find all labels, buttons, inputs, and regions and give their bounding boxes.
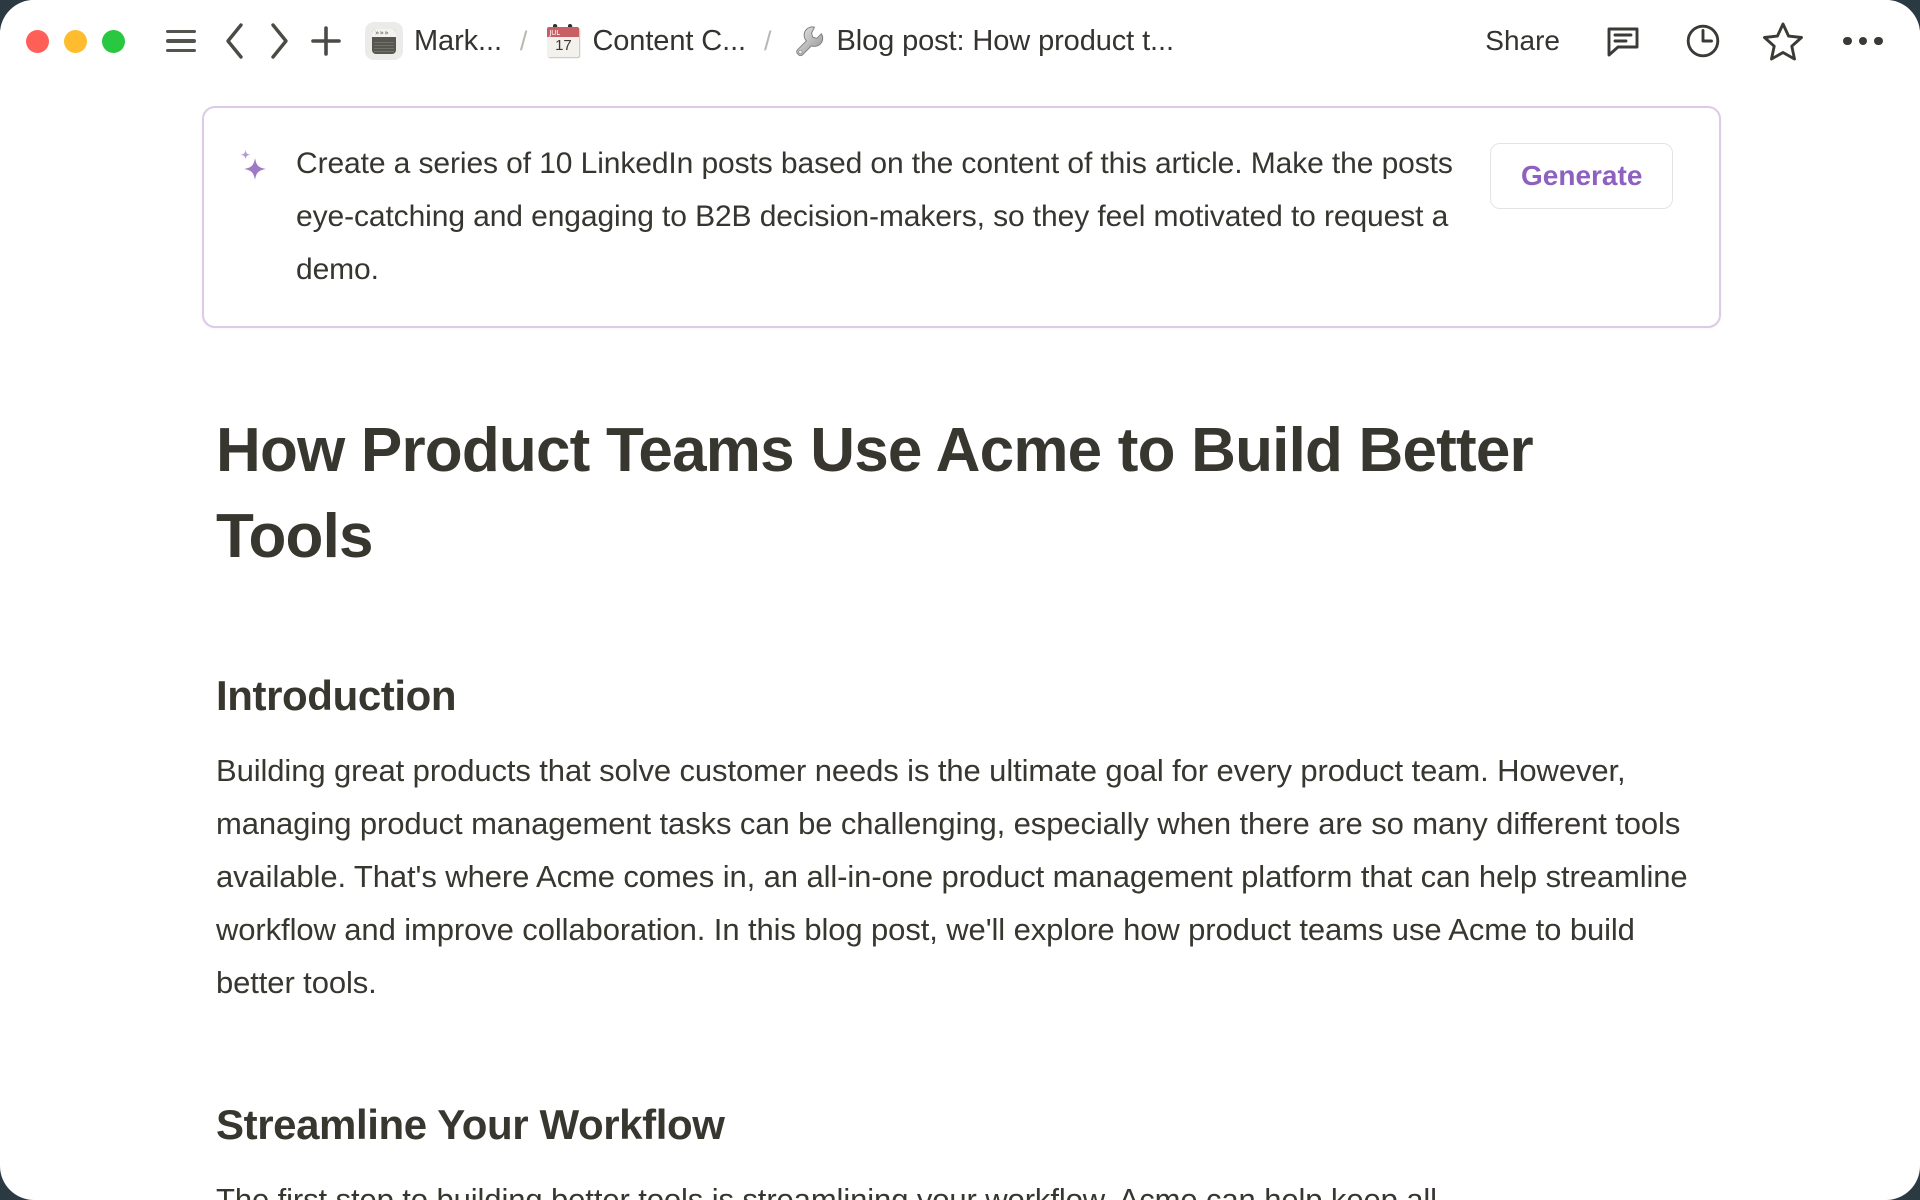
share-button[interactable]: Share xyxy=(1479,21,1566,61)
calendar-month-label: JUL xyxy=(549,29,560,37)
workspace-card-icon: »»» xyxy=(365,22,403,60)
ai-prompt-card[interactable]: Create a series of 10 LinkedIn posts bas… xyxy=(202,106,1721,328)
page-title[interactable]: How Product Teams Use Acme to Build Bett… xyxy=(216,408,1606,580)
minimize-window-button[interactable] xyxy=(64,30,87,53)
chevron-right-icon[interactable] xyxy=(257,19,301,63)
star-icon[interactable] xyxy=(1760,18,1806,64)
document-body: How Product Teams Use Acme to Build Bett… xyxy=(0,350,1920,1200)
calendar-emoji-icon: JUL 17 xyxy=(545,23,581,59)
ai-prompt-text[interactable]: Create a series of 10 LinkedIn posts bas… xyxy=(296,135,1456,296)
section-heading-streamline-your-workflow[interactable]: Streamline Your Workflow xyxy=(216,1101,1704,1149)
app-window: »»» Mark... / JUL 17 Content C... / xyxy=(0,0,1920,1200)
breadcrumb-item-current-page[interactable]: Blog post: How product t... xyxy=(786,20,1178,62)
close-window-button[interactable] xyxy=(26,30,49,53)
window-traffic-lights xyxy=(26,30,125,53)
more-dots xyxy=(1843,37,1883,46)
breadcrumb-label-current-page: Blog post: How product t... xyxy=(837,25,1174,58)
plus-icon[interactable] xyxy=(303,18,349,64)
breadcrumb-label-workspace: Mark... xyxy=(414,25,502,58)
clock-history-icon[interactable] xyxy=(1680,18,1726,64)
toolbar-actions: Share xyxy=(1453,18,1886,64)
breadcrumb: »»» Mark... / JUL 17 Content C... / xyxy=(361,19,1178,63)
calendar-day-label: 17 xyxy=(545,37,581,54)
chevron-left-icon[interactable] xyxy=(213,19,257,63)
maximize-window-button[interactable] xyxy=(102,30,125,53)
breadcrumb-item-content-calendar[interactable]: JUL 17 Content C... xyxy=(541,20,750,62)
breadcrumb-separator-2: / xyxy=(764,26,772,57)
breadcrumb-separator: / xyxy=(520,26,528,57)
hamburger-menu-icon[interactable] xyxy=(159,19,203,63)
comment-bubble-icon[interactable] xyxy=(1600,18,1646,64)
section-paragraph-introduction[interactable]: Building great products that solve custo… xyxy=(216,744,1704,1009)
window-titlebar: »»» Mark... / JUL 17 Content C... / xyxy=(0,0,1920,82)
breadcrumb-item-workspace[interactable]: »»» Mark... xyxy=(361,19,506,63)
wrench-emoji-icon xyxy=(790,23,826,59)
more-options-icon[interactable] xyxy=(1840,18,1886,64)
section-heading-introduction[interactable]: Introduction xyxy=(216,672,1704,720)
generate-button[interactable]: Generate xyxy=(1490,143,1673,209)
hamburger-bars xyxy=(166,23,196,59)
breadcrumb-label-content-calendar: Content C... xyxy=(592,25,746,58)
ai-sparkle-icon xyxy=(230,145,278,193)
section-paragraph-streamline-your-workflow[interactable]: The first step to building better tools … xyxy=(216,1173,1704,1200)
